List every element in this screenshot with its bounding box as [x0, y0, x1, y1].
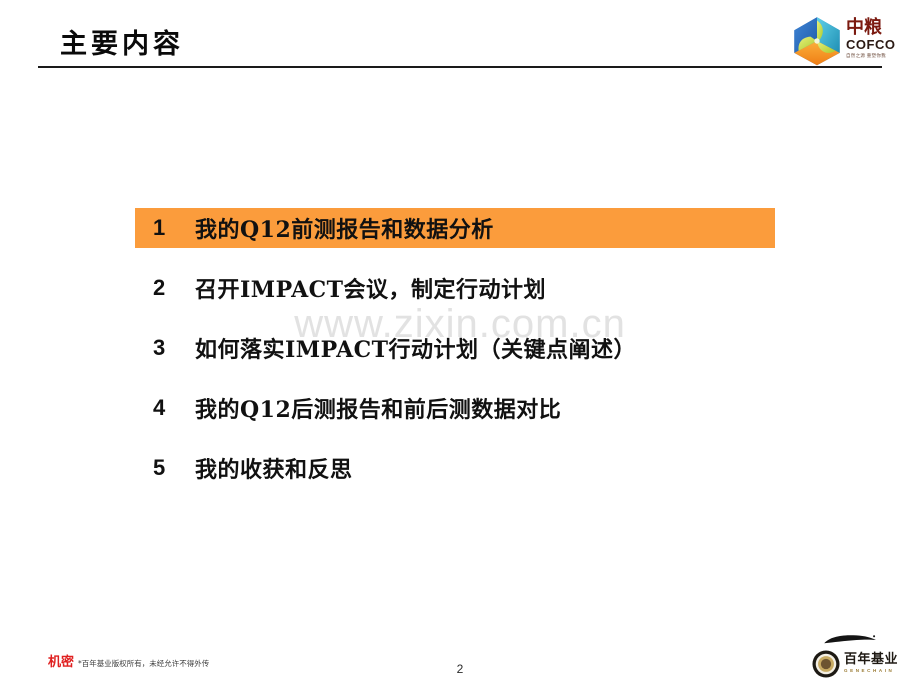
brush-stroke-icon — [822, 634, 880, 646]
agenda-item-2[interactable]: 2 召开IMPACT会议，制定行动计划 — [135, 268, 775, 308]
cofco-cube-icon — [790, 14, 844, 68]
header-divider — [38, 66, 882, 68]
agenda-item-label: 我的Q12前测报告和数据分析 — [195, 212, 494, 244]
ring-icon — [812, 650, 840, 678]
agenda-item-5[interactable]: 5 我的收获和反思 — [135, 448, 775, 488]
cofco-logo: 中粮 COFCO 自然之源 重塑你我 — [784, 10, 912, 72]
agenda-item-label: 召开IMPACT会议，制定行动计划 — [195, 272, 546, 304]
cofco-wordmark: 中粮 COFCO 自然之源 重塑你我 — [846, 18, 912, 59]
agenda-list: 1 我的Q12前测报告和数据分析 2 召开IMPACT会议，制定行动计划 3 如… — [135, 208, 775, 508]
agenda-item-3[interactable]: 3 如何落实IMPACT行动计划（关键点阐述） — [135, 328, 775, 368]
agenda-item-1[interactable]: 1 我的Q12前测报告和数据分析 — [135, 208, 775, 248]
page-title: 主要内容 — [60, 22, 184, 61]
cofco-slogan: 自然之源 重塑你我 — [846, 52, 912, 59]
slide-canvas: 主要内容 — [0, 0, 920, 690]
cofco-english-name: COFCO — [846, 37, 912, 52]
genechain-wordmark: 百年基业 GENECHAIN — [844, 652, 912, 675]
genechain-english-name: GENECHAIN — [844, 667, 912, 675]
agenda-item-4[interactable]: 4 我的Q12后测报告和前后测数据对比 — [135, 388, 775, 428]
agenda-item-number: 4 — [153, 395, 195, 421]
page-number: 2 — [0, 662, 920, 676]
agenda-item-number: 5 — [153, 455, 195, 481]
genechain-chinese-name: 百年基业 — [844, 652, 912, 667]
agenda-item-number: 2 — [153, 275, 195, 301]
genechain-logo: 百年基业 GENECHAIN — [800, 632, 912, 684]
cofco-chinese-name: 中粮 — [846, 18, 912, 37]
agenda-item-number: 3 — [153, 335, 195, 361]
agenda-item-label: 我的收获和反思 — [195, 452, 353, 484]
agenda-item-label: 如何落实IMPACT行动计划（关键点阐述） — [195, 332, 636, 364]
agenda-item-number: 1 — [153, 215, 195, 241]
agenda-item-label: 我的Q12后测报告和前后测数据对比 — [195, 392, 561, 424]
